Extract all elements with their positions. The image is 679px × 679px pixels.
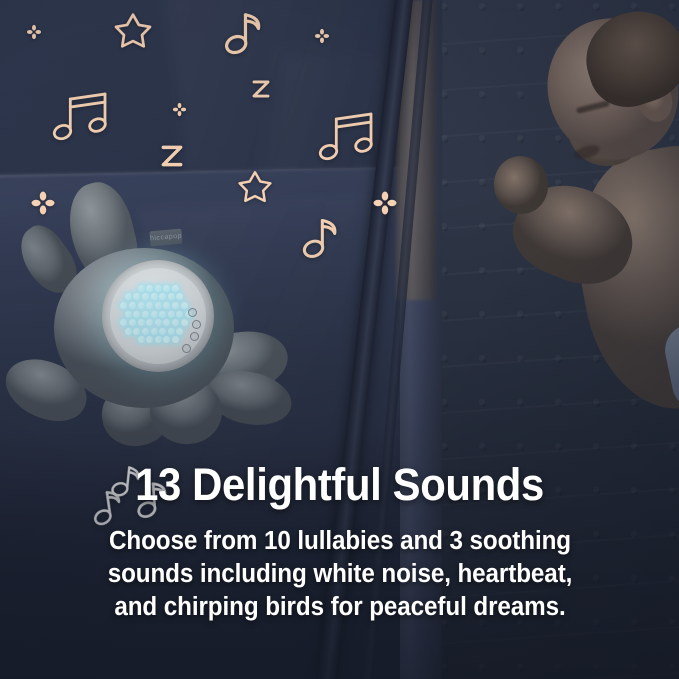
subtitle-line-3: and chirping birds for peaceful dreams.	[114, 593, 565, 621]
headline: 13 Delightful Sounds	[24, 462, 655, 509]
subtitle: Choose from 10 lullabies and 3 soothing …	[74, 525, 606, 624]
product-lifestyle-image: hiccapop	[0, 0, 679, 679]
marketing-text-block: 13 Delightful Sounds Choose from 10 lull…	[0, 462, 679, 624]
subtitle-line-2: sounds including white noise, heartbeat,	[107, 560, 572, 588]
subtitle-line-1: Choose from 10 lullabies and 3 soothing	[108, 527, 570, 555]
